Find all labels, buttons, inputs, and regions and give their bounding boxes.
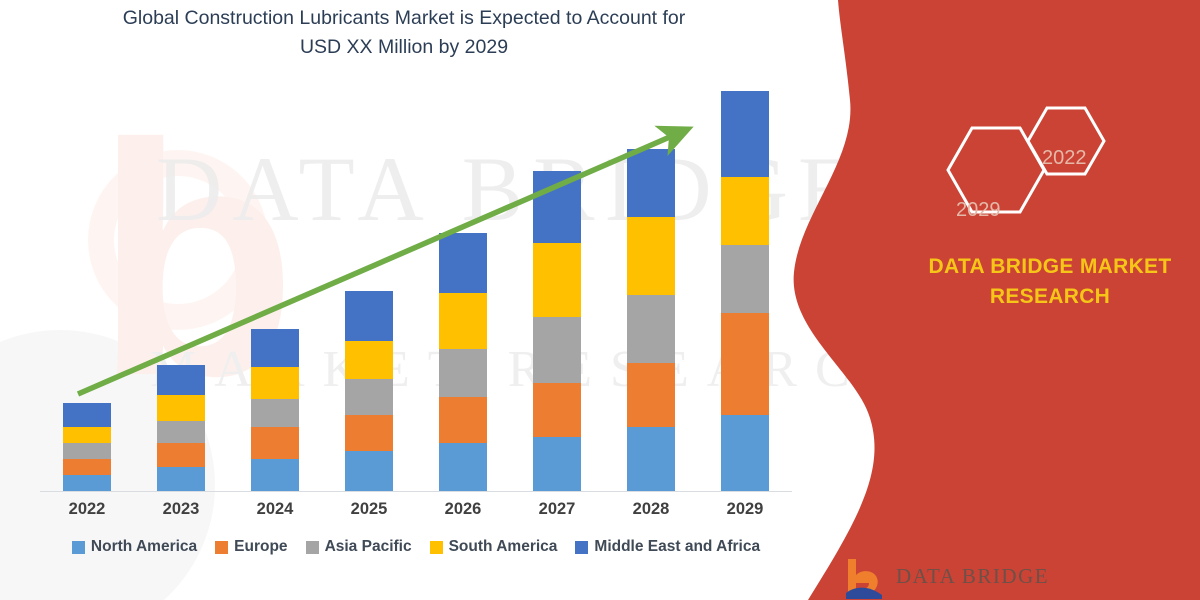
x-axis-label: 2023 <box>134 492 228 526</box>
bar-segment <box>251 459 299 491</box>
bar-segment <box>721 177 769 245</box>
bar-slot <box>40 92 134 491</box>
x-axis-labels: 20222023202420252026202720282029 <box>40 492 792 526</box>
legend-label: South America <box>449 538 558 556</box>
logo-text: DATA BRIDGE <box>896 564 1049 589</box>
bar-segment <box>157 395 205 421</box>
x-axis-label: 2025 <box>322 492 416 526</box>
panel-title: By Regions, 2022 to 2029 <box>760 0 1200 5</box>
bar-segment <box>157 421 205 443</box>
bar-slot <box>228 92 322 491</box>
legend-item[interactable]: Asia Pacific <box>306 538 412 556</box>
bar-segment <box>63 403 111 427</box>
bar-slot <box>604 92 698 491</box>
bar-segment <box>533 171 581 243</box>
chart-title-line-1: Global Construction Lubricants Market is… <box>34 4 774 33</box>
bar-segment <box>439 233 487 293</box>
bar-segment <box>345 341 393 379</box>
bar-segment <box>439 293 487 349</box>
legend-label: North America <box>91 538 197 556</box>
bar-segment <box>251 427 299 459</box>
bar-segment <box>251 399 299 427</box>
bar-slot <box>322 92 416 491</box>
bar-segment <box>345 379 393 415</box>
bar-segment <box>721 415 769 491</box>
stacked-bar[interactable] <box>627 149 675 491</box>
bar-segment <box>251 367 299 399</box>
bar-segment <box>439 443 487 491</box>
infographic-page: b DATA BRIDGE MARKET RESEARCH Global Con… <box>0 0 1200 600</box>
bar-segment <box>627 427 675 491</box>
legend-item[interactable]: South America <box>430 538 558 556</box>
data-bridge-logo: DATA BRIDGE <box>840 552 1170 600</box>
stacked-bar[interactable] <box>345 291 393 491</box>
bar-segment <box>439 397 487 443</box>
stacked-bar[interactable] <box>721 91 769 491</box>
bar-segment <box>533 437 581 491</box>
legend-item[interactable]: Middle East and Africa <box>575 538 760 556</box>
bar-segment <box>721 91 769 177</box>
bar-segment <box>439 349 487 397</box>
bar-segment <box>63 427 111 443</box>
chart-legend: North AmericaEuropeAsia PacificSouth Ame… <box>32 538 800 556</box>
x-axis-label: 2027 <box>510 492 604 526</box>
hexagon-shapes <box>920 95 1150 245</box>
legend-swatch-icon <box>306 541 319 554</box>
legend-label: Middle East and Africa <box>594 538 760 556</box>
stacked-bar[interactable] <box>533 171 581 491</box>
bar-segment <box>721 313 769 415</box>
bar-segment <box>157 365 205 395</box>
chart-title-line-2: USD XX Million by 2029 <box>34 33 774 62</box>
bridge-mark-icon <box>840 553 886 599</box>
brand-line-2: RESEARCH <box>990 285 1110 308</box>
chart-plot-area <box>0 92 800 492</box>
bar-segment <box>345 451 393 491</box>
bar-group <box>40 92 792 491</box>
bar-segment <box>345 291 393 341</box>
legend-swatch-icon <box>575 541 588 554</box>
bar-segment <box>627 295 675 363</box>
bar-slot <box>416 92 510 491</box>
bar-slot <box>698 92 792 491</box>
stacked-bar[interactable] <box>63 403 111 491</box>
stacked-bar[interactable] <box>157 365 205 491</box>
chart-title: Global Construction Lubricants Market is… <box>34 4 774 63</box>
legend-item[interactable]: Europe <box>215 538 287 556</box>
stacked-bar[interactable] <box>251 329 299 491</box>
bar-segment <box>63 459 111 475</box>
legend-label: Europe <box>234 538 287 556</box>
hexagon-label-2029: 2029 <box>956 199 1001 222</box>
bar-segment <box>533 317 581 383</box>
bar-slot <box>510 92 604 491</box>
bar-segment <box>627 363 675 427</box>
brand-name: DATA BRIDGE MARKET RESEARCH <box>900 252 1200 313</box>
bar-segment <box>627 149 675 217</box>
x-axis-label: 2022 <box>40 492 134 526</box>
x-axis-label: 2024 <box>228 492 322 526</box>
bar-segment <box>63 443 111 459</box>
x-axis-label: 2026 <box>416 492 510 526</box>
bar-segment <box>627 217 675 295</box>
bar-segment <box>721 245 769 313</box>
bar-segment <box>533 383 581 437</box>
bar-segment <box>157 443 205 467</box>
hexagon-label-2022: 2022 <box>1042 147 1087 170</box>
bar-segment <box>157 467 205 491</box>
bar-segment <box>533 243 581 317</box>
legend-label: Asia Pacific <box>325 538 412 556</box>
hexagon-group: 2022 2029 <box>920 95 1150 245</box>
legend-swatch-icon <box>72 541 85 554</box>
x-axis-label: 2029 <box>698 492 792 526</box>
bar-slot <box>134 92 228 491</box>
legend-swatch-icon <box>430 541 443 554</box>
bar-segment <box>63 475 111 491</box>
legend-swatch-icon <box>215 541 228 554</box>
brand-line-1: DATA BRIDGE MARKET <box>929 255 1172 278</box>
x-axis-label: 2028 <box>604 492 698 526</box>
bar-segment <box>251 329 299 367</box>
bar-segment <box>345 415 393 451</box>
legend-item[interactable]: North America <box>72 538 197 556</box>
stacked-bar[interactable] <box>439 233 487 491</box>
